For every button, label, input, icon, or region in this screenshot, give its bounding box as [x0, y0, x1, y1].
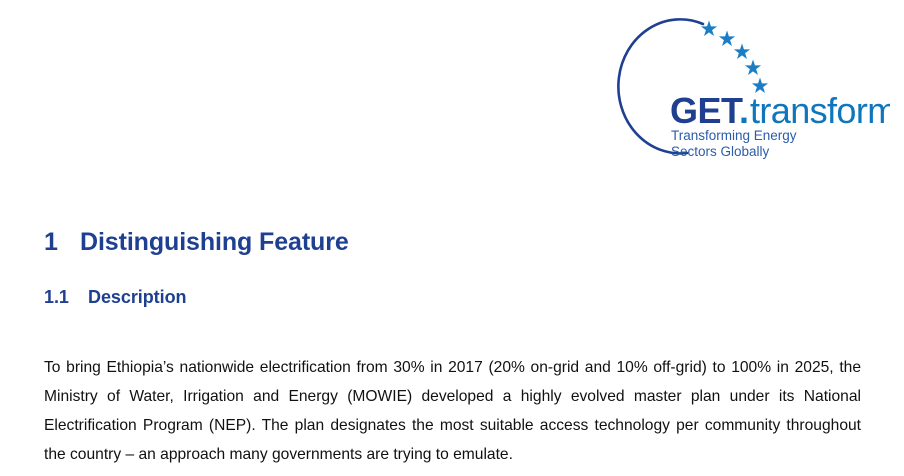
heading-2-number: 1.1	[44, 287, 88, 308]
heading-1-number: 1	[44, 228, 80, 257]
body-paragraph: To bring Ethiopia’s nationwide electrifi…	[44, 353, 861, 469]
heading-2-label: Description	[88, 287, 186, 307]
logo-wordmark-dot: .	[739, 90, 749, 131]
heading-level-2: 1.1Description	[44, 287, 744, 308]
logo-tagline-line1: Transforming Energy	[671, 128, 797, 143]
logo-graphic: GET . transform Transforming Energy Sect…	[615, 14, 890, 164]
logo-wordmark-get: GET	[670, 90, 743, 131]
logo-tagline-line2: Sectors Globally	[671, 144, 770, 159]
logo-wordmark-transform: transform	[750, 90, 890, 131]
heading-level-1: 1Distinguishing Feature	[44, 228, 744, 257]
logo-stars-icon	[701, 21, 768, 94]
get-transform-logo: GET . transform Transforming Energy Sect…	[615, 14, 890, 164]
page-title: Distinguishing Feature	[80, 228, 349, 256]
